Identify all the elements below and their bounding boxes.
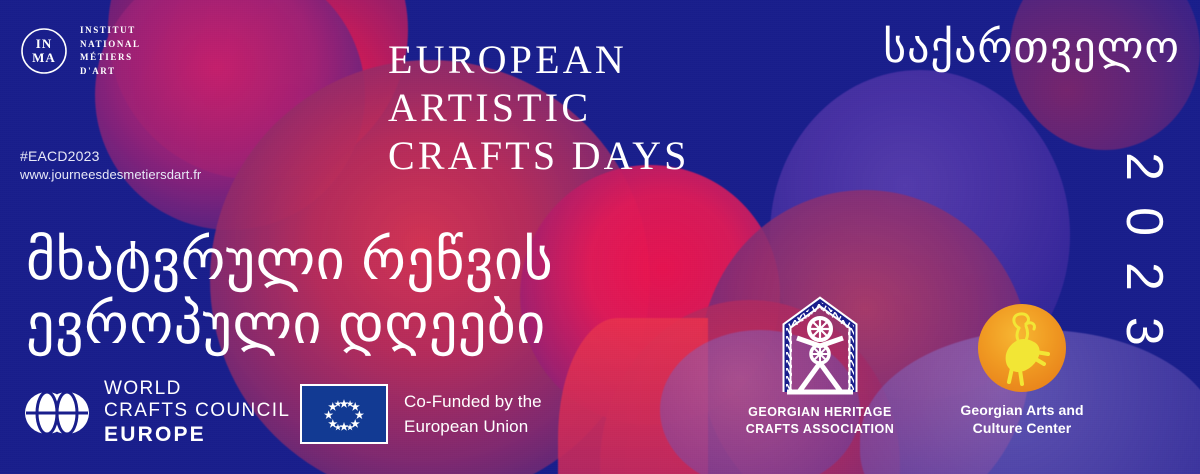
country-name-georgian: საქართველო — [883, 26, 1180, 70]
ghca-wordmark: GEORGIAN HERITAGE CRAFTS ASSOCIATION — [740, 404, 900, 438]
inma-logo: IN MA INSTITUT NATIONAL MÉTIERS D'ART — [20, 24, 141, 78]
world-crafts-council-globe-icon — [24, 383, 90, 443]
eu-stars-circle — [302, 386, 386, 442]
world-crafts-council-logo: WORLD CRAFTS COUNCIL EUROPE — [24, 378, 290, 448]
eu-line-1: Co-Funded by the — [404, 389, 542, 415]
georgian-heritage-ornamental-figure-icon — [775, 296, 865, 396]
page-title-georgian: მხატვრული რეწვის ევროპული დღეები — [26, 228, 553, 356]
inma-line-1: INSTITUT — [80, 24, 141, 38]
headline-line-2: ევროპული დღეები — [26, 292, 553, 356]
georgian-heritage-crafts-association-logo: GEORGIAN HERITAGE CRAFTS ASSOCIATION — [740, 296, 900, 438]
european-union-flag-icon — [300, 384, 388, 444]
inma-line-3: MÉTIERS — [80, 51, 141, 65]
wcc-line-2: CRAFTS COUNCIL — [104, 400, 290, 422]
gacc-wordmark: Georgian Arts and Culture Center — [942, 401, 1102, 437]
georgian-arts-culture-center-logo: Georgian Arts and Culture Center — [942, 302, 1102, 437]
page-title-english: EUROPEAN ARTISTIC CRAFTS DAYS — [388, 36, 690, 180]
gacc-line-1: Georgian Arts and — [942, 401, 1102, 419]
eu-line-2: European Union — [404, 414, 542, 440]
inma-circular-monogram-icon: IN MA — [20, 27, 68, 75]
eu-funding-block: Co-Funded by the European Union — [300, 384, 542, 444]
georgian-arts-culture-deer-medallion-icon — [976, 302, 1068, 394]
gacc-line-2: Culture Center — [942, 419, 1102, 437]
event-website-url[interactable]: www.journeesdesmetiersdart.fr — [20, 166, 201, 185]
social-info: #EACD2023 www.journeesdesmetiersdart.fr — [20, 146, 201, 185]
event-banner: IN MA INSTITUT NATIONAL MÉTIERS D'ART #E… — [0, 0, 1200, 474]
headline-line-1: მხატვრული რეწვის — [26, 228, 553, 292]
wcc-line-1: WORLD — [104, 378, 290, 400]
event-hashtag: #EACD2023 — [20, 146, 201, 166]
title-line-2: ARTISTIC — [388, 84, 690, 132]
svg-text:IN: IN — [36, 36, 52, 51]
inma-line-2: NATIONAL — [80, 38, 141, 52]
eu-funding-label: Co-Funded by the European Union — [404, 389, 542, 440]
inma-line-4: D'ART — [80, 65, 141, 79]
inma-wordmark: INSTITUT NATIONAL MÉTIERS D'ART — [80, 24, 141, 78]
ghca-line-1: GEORGIAN HERITAGE — [740, 404, 900, 421]
wcc-line-3: EUROPE — [104, 423, 290, 448]
ghca-line-2: CRAFTS ASSOCIATION — [740, 421, 900, 438]
title-line-1: EUROPEAN — [388, 36, 690, 84]
event-year: 2023 — [1118, 152, 1170, 372]
world-crafts-council-wordmark: WORLD CRAFTS COUNCIL EUROPE — [104, 378, 290, 448]
title-line-3: CRAFTS DAYS — [388, 132, 690, 180]
svg-text:MA: MA — [32, 50, 56, 65]
